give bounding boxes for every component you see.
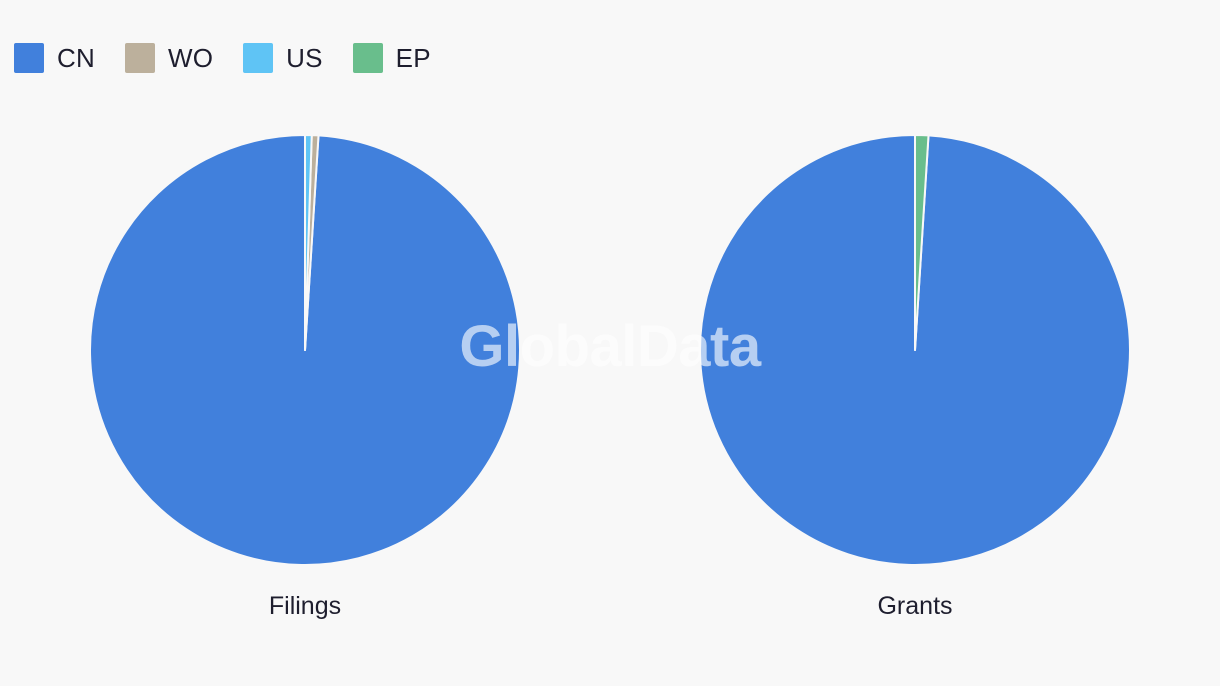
pie-filings[interactable]	[90, 135, 520, 565]
legend-item-us[interactable]: US	[243, 43, 323, 74]
pie-chart-figure: CN WO US EP GlobalData Filings Grants	[0, 0, 1220, 686]
legend-label-ep: EP	[396, 43, 431, 74]
legend-swatch-us	[243, 43, 273, 73]
legend-swatch-wo	[125, 43, 155, 73]
legend-swatch-cn	[14, 43, 44, 73]
pie-caption-filings: Filings	[90, 592, 520, 621]
legend-label-wo: WO	[168, 43, 213, 74]
legend-label-cn: CN	[57, 43, 95, 74]
pie-grants[interactable]	[700, 135, 1130, 565]
legend-swatch-ep	[353, 43, 383, 73]
legend-label-us: US	[286, 43, 323, 74]
chart-legend: CN WO US EP	[14, 40, 461, 76]
legend-item-ep[interactable]: EP	[353, 43, 431, 74]
pie-caption-grants: Grants	[700, 592, 1130, 621]
pie-filings-svg	[90, 135, 520, 565]
pie-grants-svg	[700, 135, 1130, 565]
legend-item-wo[interactable]: WO	[125, 43, 213, 74]
legend-item-cn[interactable]: CN	[14, 43, 95, 74]
